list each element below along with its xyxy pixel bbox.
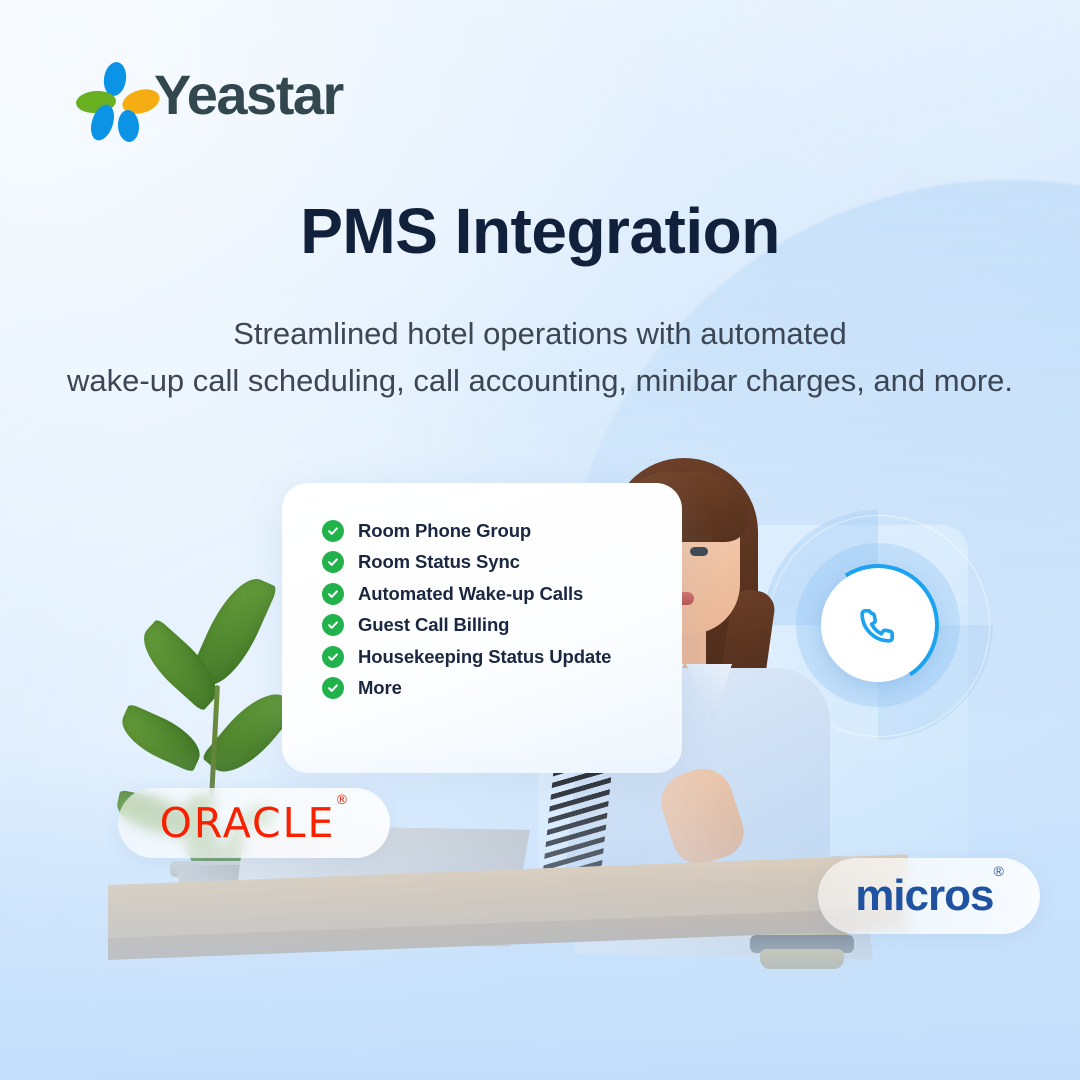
logo-wordmark: Yeastar xyxy=(154,67,343,123)
partner-badge-oracle[interactable]: ORACLE® xyxy=(118,788,390,858)
feature-label: Automated Wake-up Calls xyxy=(358,583,583,605)
yeastar-flower-mark-icon xyxy=(78,62,140,128)
list-item[interactable]: Room Status Sync xyxy=(322,547,742,579)
micros-wordmark: micros xyxy=(855,871,993,920)
subtitle-line-1: Streamlined hotel operations with automa… xyxy=(0,310,1080,357)
subtitle-line-2: wake-up call scheduling, call accounting… xyxy=(0,357,1080,404)
check-circle-icon xyxy=(322,520,344,542)
oracle-logo: ORACLE® xyxy=(160,799,349,847)
feature-label: Guest Call Billing xyxy=(358,614,509,636)
list-item[interactable]: Guest Call Billing xyxy=(322,610,742,642)
page-subtitle: Streamlined hotel operations with automa… xyxy=(0,310,1080,404)
micros-logo: micros® xyxy=(855,871,1003,921)
phone-handset-icon xyxy=(858,605,898,645)
page-title: PMS Integration xyxy=(0,196,1080,266)
check-circle-icon xyxy=(322,551,344,573)
feature-label: More xyxy=(358,677,402,699)
list-item[interactable]: Automated Wake-up Calls xyxy=(322,578,742,610)
partner-badge-micros[interactable]: micros® xyxy=(818,858,1040,934)
check-circle-icon xyxy=(322,583,344,605)
oracle-wordmark: ORACLE xyxy=(160,799,336,847)
check-circle-icon xyxy=(322,677,344,699)
feature-label: Room Status Sync xyxy=(358,551,520,573)
check-circle-icon xyxy=(322,646,344,668)
poster-canvas: Yeastar PMS Integration Streamlined hote… xyxy=(0,0,1080,1080)
check-circle-icon xyxy=(322,614,344,636)
petal-bottom-center-blue-icon xyxy=(117,109,140,142)
list-item[interactable]: Room Phone Group xyxy=(322,515,742,547)
list-item[interactable]: Housekeeping Status Update xyxy=(322,641,742,673)
oracle-trademark: ® xyxy=(335,793,348,808)
feature-label: Room Phone Group xyxy=(358,520,531,542)
feature-label: Housekeeping Status Update xyxy=(358,646,611,668)
phone-badge[interactable] xyxy=(821,568,935,682)
list-item[interactable]: More xyxy=(322,673,742,705)
micros-trademark: ® xyxy=(993,863,1002,879)
yeastar-logo[interactable]: Yeastar xyxy=(78,62,343,128)
feature-list: Room Phone Group Room Status Sync Automa… xyxy=(322,515,742,704)
